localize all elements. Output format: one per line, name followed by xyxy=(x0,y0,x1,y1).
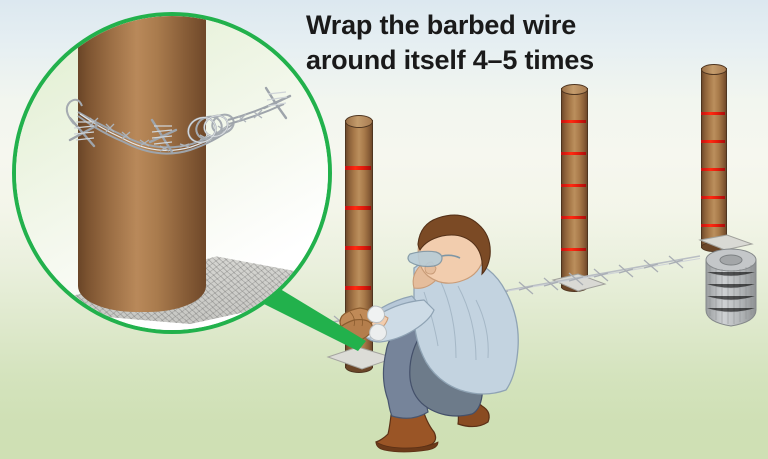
callout-barbed-wire xyxy=(16,16,332,334)
detail-callout[interactable] xyxy=(12,12,332,334)
safety-glasses xyxy=(408,251,442,266)
illustration-scene: Wrap the barbed wire around itself 4–5 t… xyxy=(0,0,768,459)
